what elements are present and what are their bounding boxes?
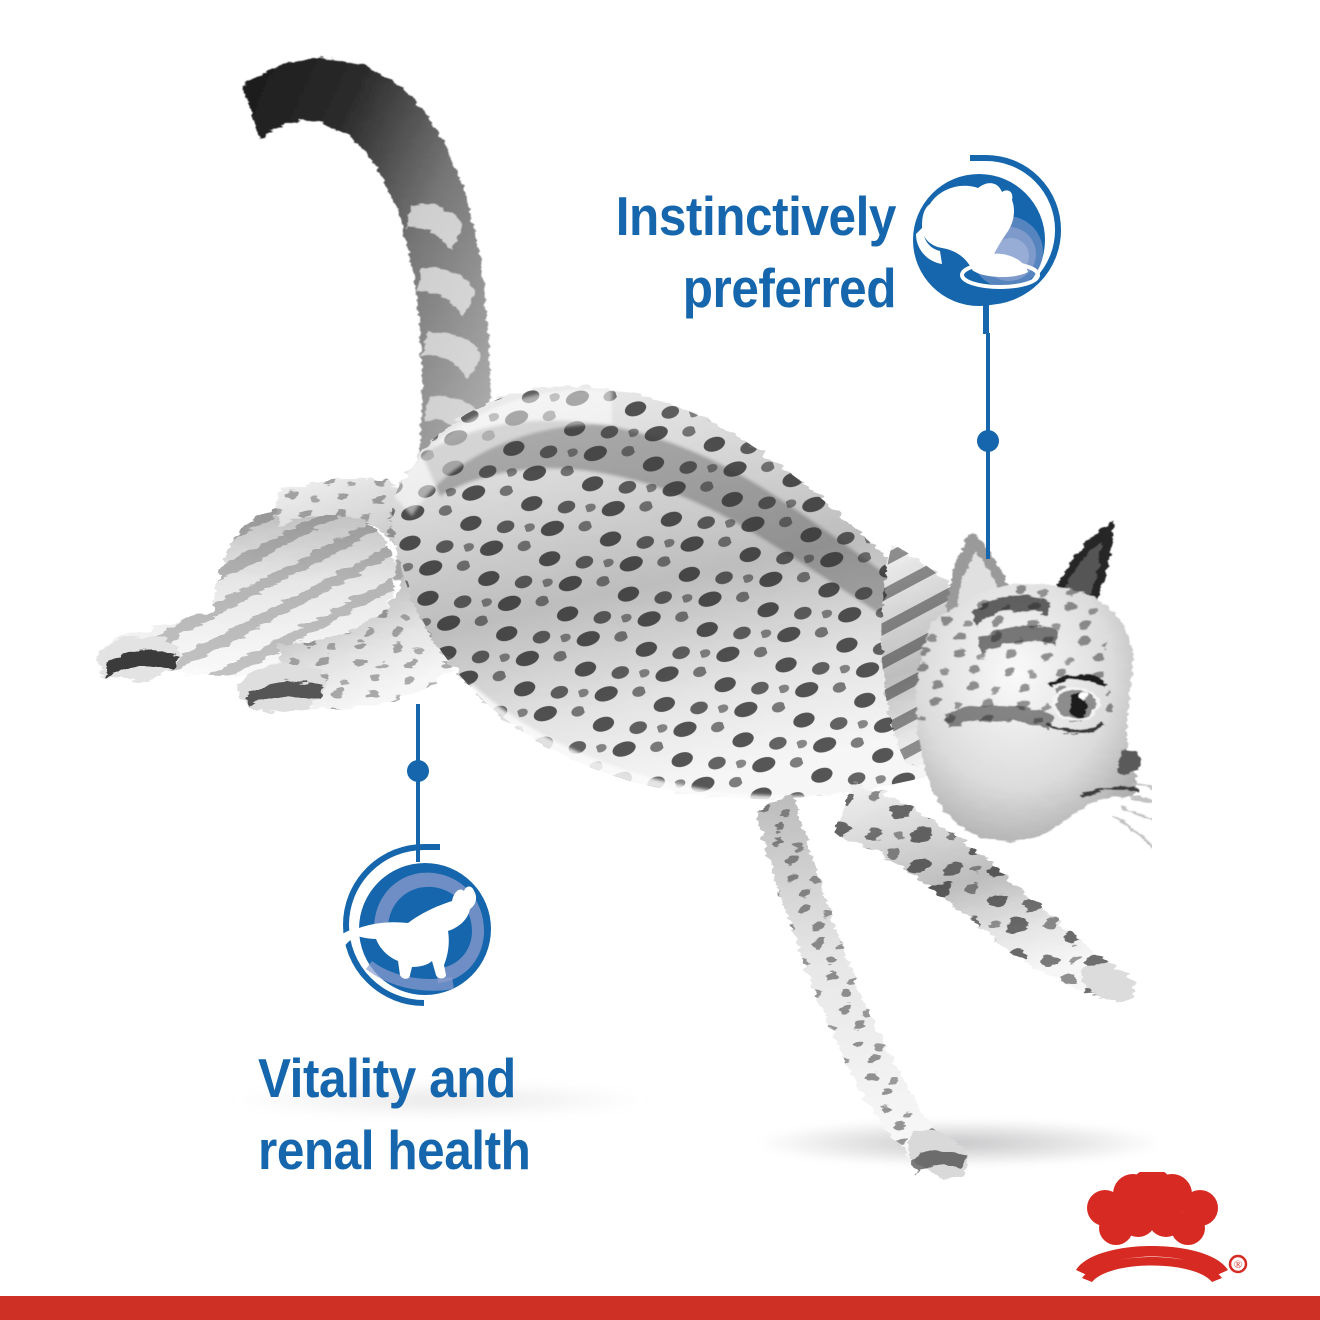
poster-canvas: Instinctively preferred Vitalit [0,0,1320,1320]
footer-red-bar [0,1296,1320,1320]
callout-label-vitality-and-renal-health: Vitality and renal health [258,1043,564,1186]
cat-eating-from-bowl-icon [912,152,1062,342]
callout-label-instinctively-preferred: Instinctively preferred [590,181,896,324]
connector-dot-bottom [407,760,429,782]
connector-line-bottom [416,704,420,862]
walking-cat-icon [328,843,504,1023]
registered-mark: ® [1234,1259,1242,1271]
connector-dot-top [977,430,999,452]
royal-canin-crown-logo: ® [1052,1172,1252,1282]
